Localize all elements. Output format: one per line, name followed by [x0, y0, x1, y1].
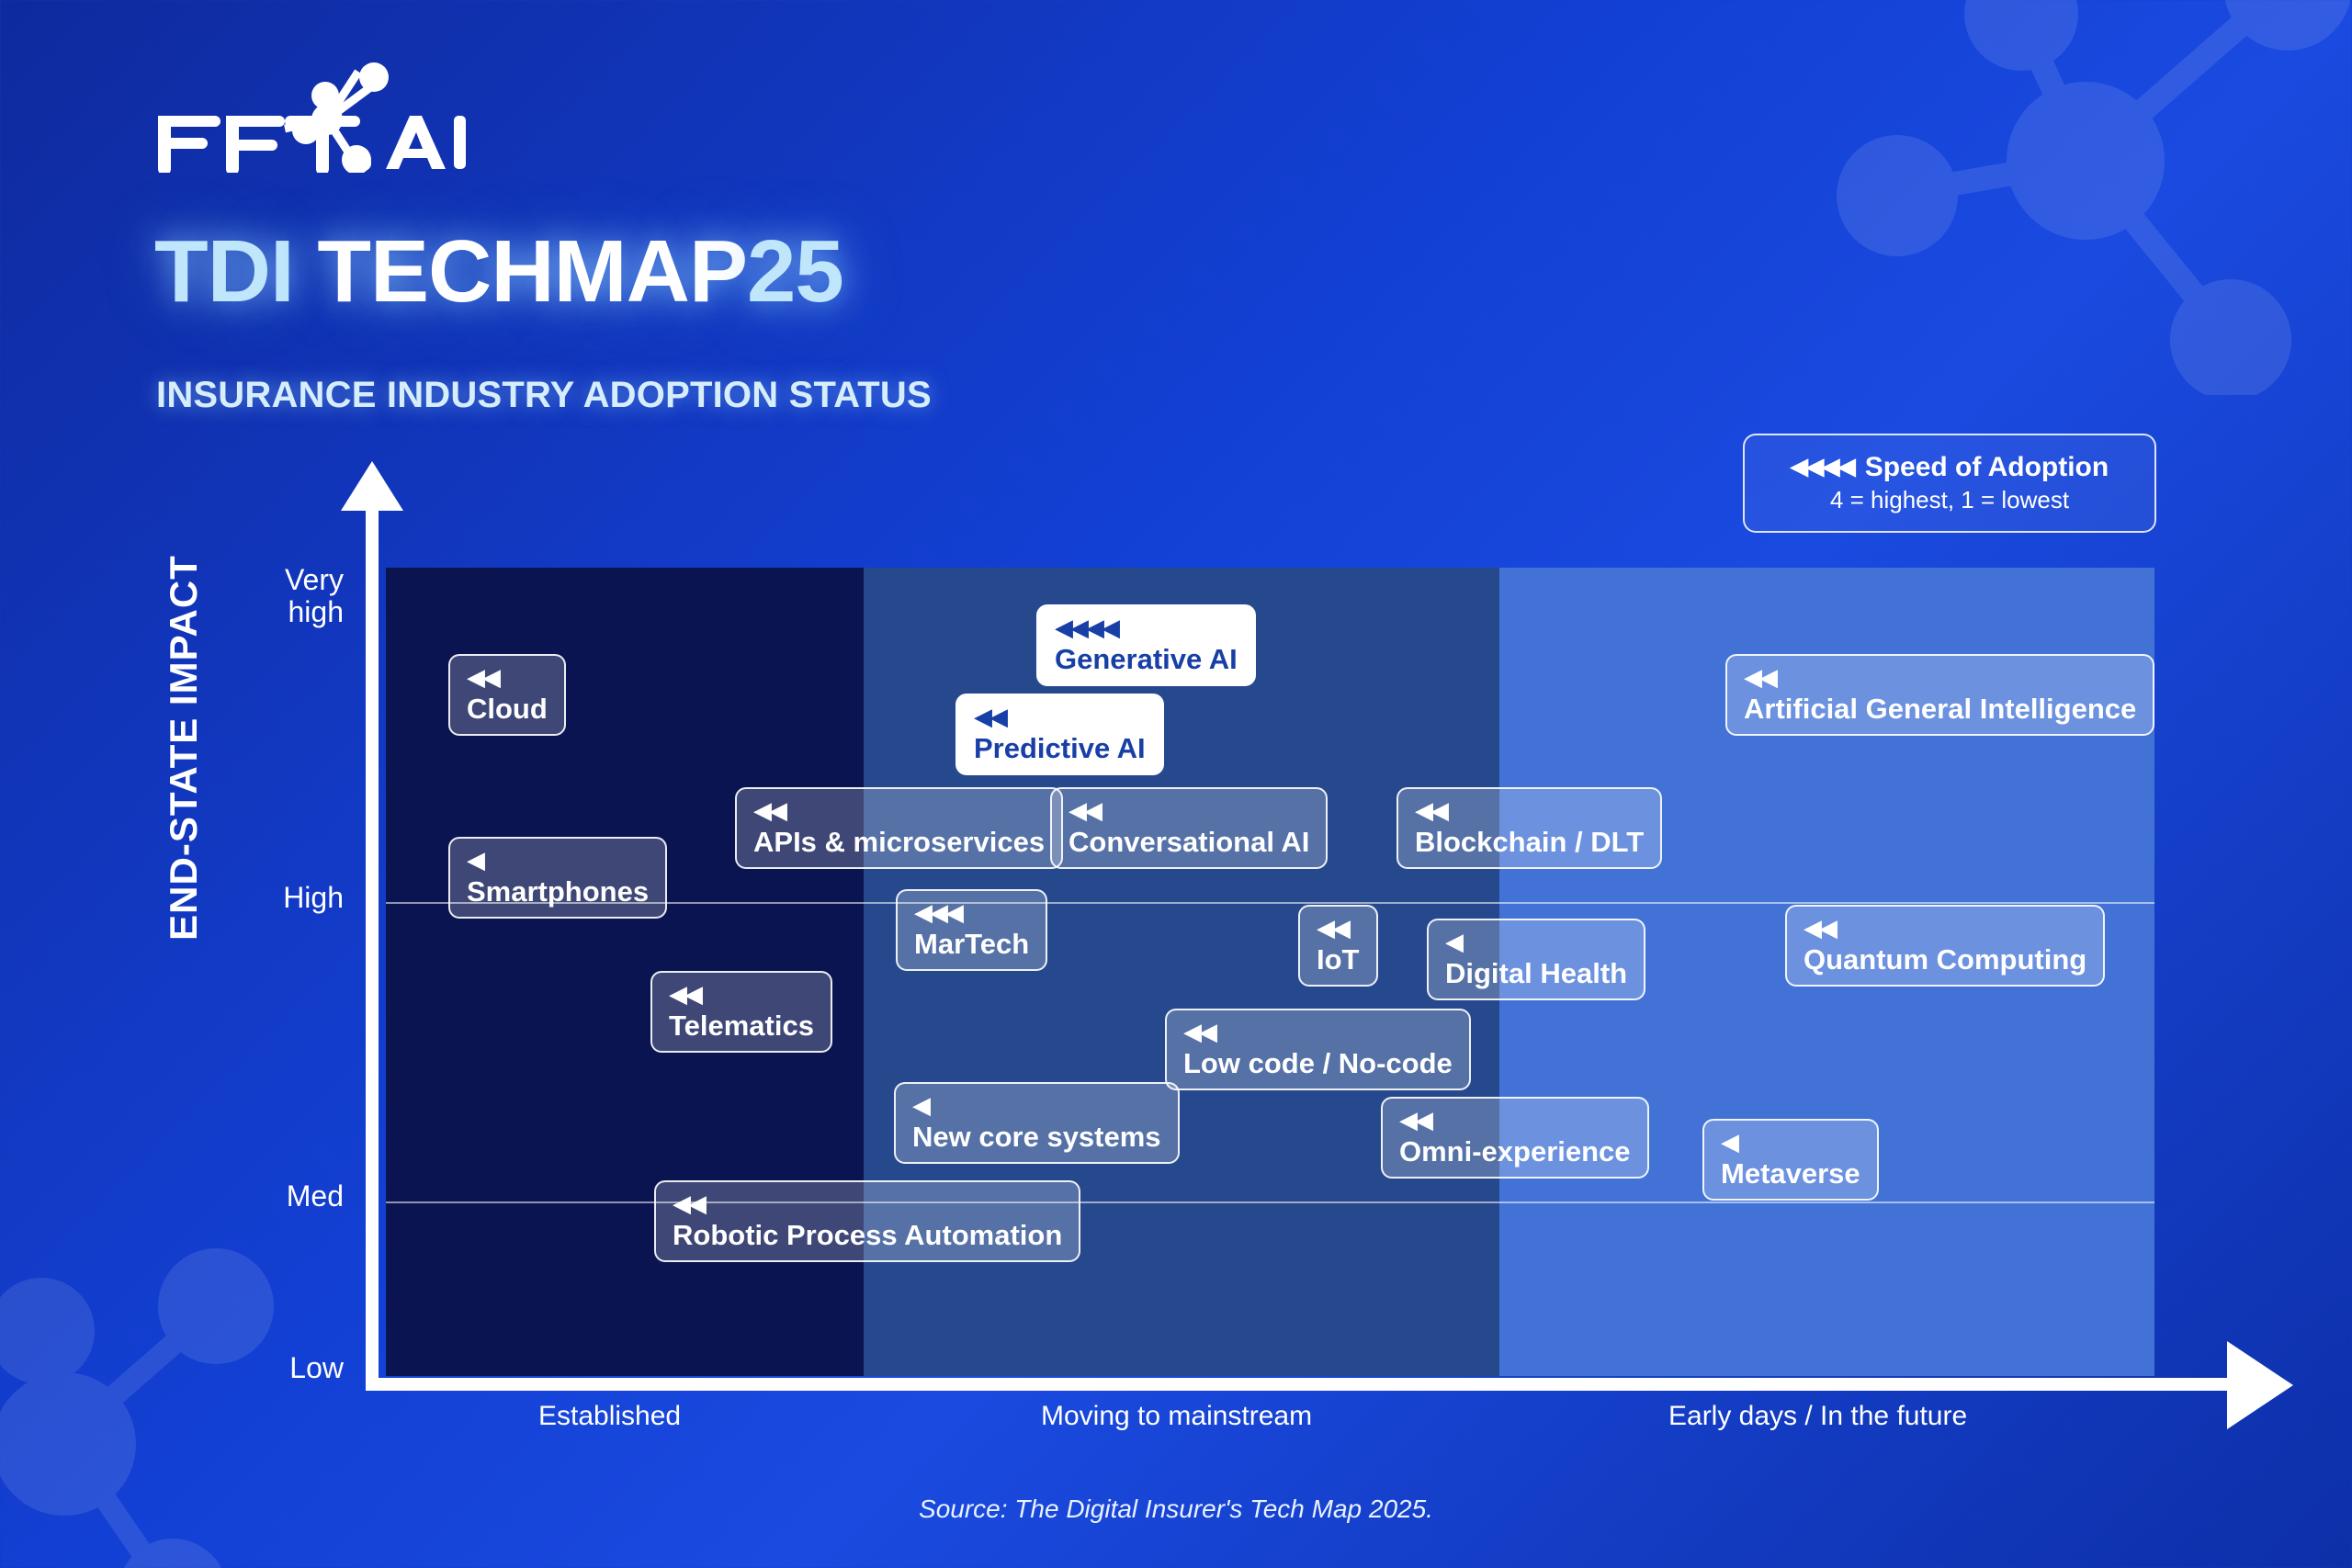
gridline-med — [386, 1201, 2154, 1203]
tech-card-robotic-process-automation[interactable]: ◀◀Robotic Process Automation — [654, 1180, 1080, 1262]
tech-card-low-code-no-code[interactable]: ◀◀Low code / No-code — [1165, 1009, 1471, 1090]
tech-card-new-core-systems[interactable]: ◀New core systems — [894, 1082, 1180, 1164]
x-tick-early-days: Early days / In the future — [1668, 1401, 1967, 1432]
speed-arrows-icon: ◀◀ — [1415, 798, 1644, 822]
tech-card-label: Telematics — [669, 1011, 814, 1040]
y-axis-line — [366, 503, 379, 1383]
tech-card-label: Predictive AI — [974, 734, 1146, 762]
tech-card-cloud[interactable]: ◀◀Cloud — [448, 654, 566, 736]
x-axis-line — [366, 1378, 2240, 1391]
tech-card-label: Conversational AI — [1069, 828, 1309, 856]
speed-arrows-icon: ◀◀ — [669, 982, 814, 1006]
speed-arrows-icon: ◀◀◀ — [914, 900, 1029, 924]
speed-arrows-icon: ◀◀ — [1804, 916, 2086, 940]
source-note: Source: The Digital Insurer's Tech Map 2… — [0, 1495, 2352, 1524]
legend-title: Speed of Adoption — [1865, 452, 2109, 482]
y-tick-low: Low — [141, 1352, 344, 1384]
tech-card-quantum-computing[interactable]: ◀◀Quantum Computing — [1785, 905, 2105, 987]
title-tdi: TDI — [154, 222, 317, 321]
y-tick-med: Med — [141, 1180, 344, 1213]
y-tick-very-high: Veryhigh — [141, 564, 344, 627]
tech-card-iot[interactable]: ◀◀IoT — [1298, 905, 1378, 987]
title-year: 25 — [747, 222, 843, 321]
speed-arrows-icon: ◀◀ — [753, 798, 1045, 822]
tech-card-label: Blockchain / DLT — [1415, 828, 1644, 856]
tech-card-martech[interactable]: ◀◀◀MarTech — [896, 889, 1047, 971]
x-axis-arrow-icon — [2227, 1341, 2293, 1429]
tech-card-smartphones[interactable]: ◀Smartphones — [448, 837, 667, 919]
tech-card-artificial-general-intelligence[interactable]: ◀◀Artificial General Intelligence — [1725, 654, 2154, 736]
tech-card-predictive-ai[interactable]: ◀◀Predictive AI — [955, 694, 1164, 775]
tech-card-label: MarTech — [914, 930, 1029, 958]
molecule-decoration-top-right — [1792, 0, 2352, 395]
x-tick-established: Established — [538, 1401, 681, 1432]
tech-card-label: APIs & microservices — [753, 828, 1045, 856]
tech-card-label: Digital Health — [1445, 959, 1627, 987]
tech-card-metaverse[interactable]: ◀Metaverse — [1702, 1119, 1879, 1201]
tech-card-label: Robotic Process Automation — [673, 1221, 1062, 1249]
speed-arrows-icon: ◀◀ — [974, 705, 1146, 728]
speed-arrows-icon: ◀ — [912, 1093, 1161, 1117]
page-subtitle: INSURANCE INDUSTRY ADOPTION STATUS — [156, 375, 932, 416]
tech-card-label: IoT — [1317, 945, 1360, 974]
tech-card-label: New core systems — [912, 1122, 1161, 1151]
tech-card-label: Omni-experience — [1399, 1137, 1631, 1166]
speed-arrows-icon: ◀◀ — [1317, 916, 1360, 940]
speed-arrows-icon: ◀◀ — [673, 1191, 1062, 1215]
fpt-ai-logo — [154, 53, 476, 173]
page-title: TDI TECHMAP25 — [154, 228, 843, 316]
speed-arrows-icon: ◀ — [467, 848, 649, 872]
speed-arrows-icon: ◀◀ — [1183, 1020, 1453, 1043]
tech-card-omni-experience[interactable]: ◀◀Omni-experience — [1381, 1097, 1649, 1179]
tech-card-apis-microservices[interactable]: ◀◀APIs & microservices — [735, 787, 1063, 869]
x-tick-mainstream: Moving to mainstream — [1041, 1401, 1312, 1432]
y-tick-high: High — [141, 882, 344, 914]
tech-card-digital-health[interactable]: ◀Digital Health — [1427, 919, 1645, 1000]
tech-card-generative-ai[interactable]: ◀◀◀◀Generative AI — [1036, 604, 1256, 686]
speed-arrows-icon: ◀ — [1721, 1130, 1860, 1154]
tech-card-label: Cloud — [467, 694, 548, 723]
legend-speed-of-adoption: ◀◀◀◀ Speed of Adoption 4 = highest, 1 = … — [1743, 434, 2156, 533]
tech-card-label: Artificial General Intelligence — [1744, 694, 2136, 723]
speed-arrows-icon: ◀◀ — [1744, 665, 2136, 689]
speed-arrows-icon: ◀◀ — [1069, 798, 1309, 822]
title-techmap: TECHMAP — [317, 222, 747, 321]
speed-arrows-icon: ◀◀◀◀ — [1055, 615, 1238, 639]
tech-card-label: Quantum Computing — [1804, 945, 2086, 974]
tech-card-label: Metaverse — [1721, 1159, 1860, 1188]
tech-card-label: Smartphones — [467, 877, 649, 906]
tech-card-blockchain-dlt[interactable]: ◀◀Blockchain / DLT — [1396, 787, 1662, 869]
speed-arrows-icon: ◀◀ — [467, 665, 548, 689]
tech-card-label: Low code / No-code — [1183, 1049, 1453, 1077]
speed-arrows-icon: ◀ — [1445, 930, 1627, 953]
speed-arrows-icon: ◀◀◀◀ — [1791, 455, 1854, 480]
legend-title-row: ◀◀◀◀ Speed of Adoption — [1791, 452, 2109, 482]
legend-scale: 4 = highest, 1 = lowest — [1830, 486, 2069, 514]
tech-card-label: Generative AI — [1055, 645, 1238, 673]
tech-card-conversational-ai[interactable]: ◀◀Conversational AI — [1050, 787, 1328, 869]
speed-arrows-icon: ◀◀ — [1399, 1108, 1631, 1132]
tech-card-telematics[interactable]: ◀◀Telematics — [650, 971, 832, 1053]
y-axis-arrow-icon — [341, 461, 403, 511]
